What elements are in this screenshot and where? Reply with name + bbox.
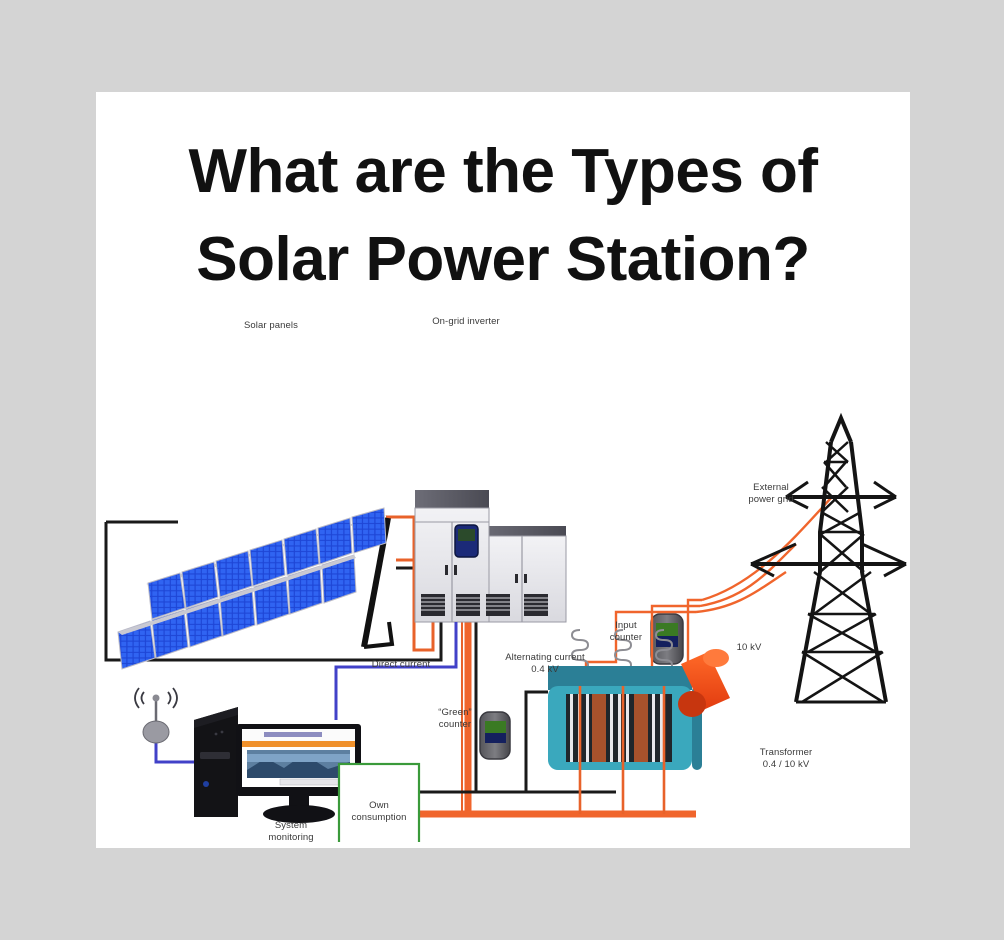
page-title-line-2: Solar Power Station?	[96, 216, 910, 304]
label-green-counter: “Green” counter	[426, 707, 484, 731]
label-external-power-grid: External power grid	[726, 482, 816, 506]
solar-power-station-diagram: Solar panels On-grid inverter External p…	[96, 322, 910, 842]
label-transformer: Transformer 0.4 / 10 kV	[736, 747, 836, 771]
pc-tower	[194, 707, 238, 817]
system-monitoring	[135, 688, 361, 823]
page-title: What are the Types of Solar Power Statio…	[96, 128, 910, 304]
label-solar-panels: Solar panels	[216, 320, 326, 332]
content-card: What are the Types of Solar Power Statio…	[96, 92, 910, 848]
label-voltage-10kv: 10 kV	[726, 642, 772, 654]
label-direct-current: Direct current	[346, 659, 456, 671]
label-alternating-current: Alternating current 0.4 kV	[486, 652, 604, 676]
transmission-tower	[751, 418, 906, 702]
label-system-monitoring: System monitoring	[246, 820, 336, 844]
on-grid-inverter	[415, 490, 566, 622]
antenna-icon	[135, 688, 177, 743]
page-root: What are the Types of Solar Power Statio…	[0, 0, 1004, 940]
green-counter	[480, 712, 510, 759]
label-input-counter: Input counter	[596, 620, 656, 644]
page-title-line-1: What are the Types of	[96, 128, 910, 216]
solar-panel-array	[118, 508, 392, 669]
label-own-consumption: Own consumption	[344, 800, 414, 824]
label-on-grid-inverter: On-grid inverter	[406, 316, 526, 328]
